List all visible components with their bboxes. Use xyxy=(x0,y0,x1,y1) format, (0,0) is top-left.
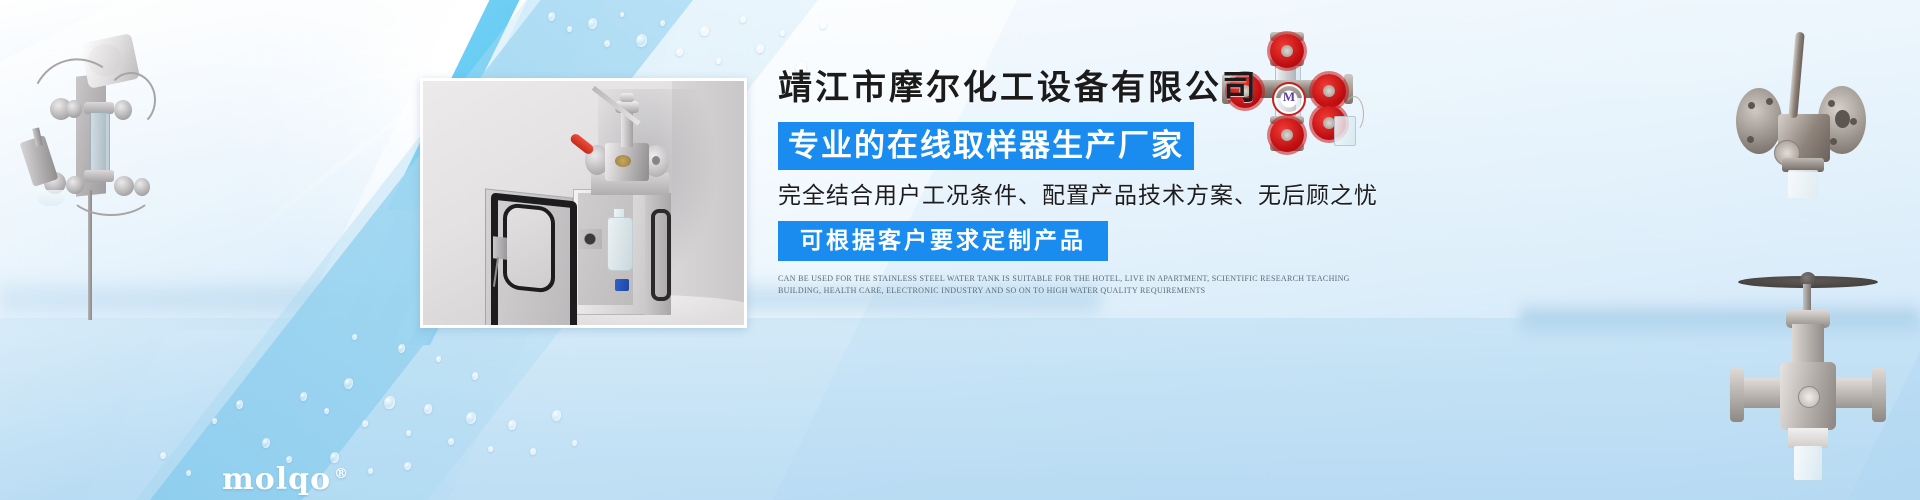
water-droplet-icon xyxy=(368,468,373,474)
gv-sample-bottle xyxy=(1794,446,1822,480)
brand-watermark: molqo® xyxy=(222,462,349,497)
water-droplet-icon xyxy=(384,396,395,409)
water-droplet-icon xyxy=(352,334,357,340)
water-droplet-icon xyxy=(740,16,746,23)
water-droplet-icon xyxy=(567,26,572,32)
sun-ray xyxy=(490,0,718,53)
photo-lever-grip xyxy=(569,132,596,156)
water-droplet-icon xyxy=(756,44,764,53)
product-photo xyxy=(420,78,747,328)
cv-handwheel-top xyxy=(1270,34,1304,68)
water-droplet-icon xyxy=(466,412,476,424)
water-droplet-icon xyxy=(436,356,441,362)
sun-ray xyxy=(490,50,819,77)
water-droplet-icon xyxy=(406,430,411,436)
water-droplet-icon xyxy=(186,470,191,476)
subheadline: 完全结合用户工况条件、配置产品技术方案、无后顾之忧 xyxy=(778,184,1398,207)
water-droplet-icon xyxy=(324,408,329,414)
headline-badge: 专业的在线取样器生产厂家 xyxy=(778,122,1194,170)
sun-ray xyxy=(490,0,590,51)
water-droplet-icon xyxy=(780,30,785,36)
water-droplet-icon xyxy=(212,418,217,424)
gv-flange-right xyxy=(1872,368,1886,422)
device-hose-lower xyxy=(66,160,156,216)
company-name: 靖江市摩尔化工设备有限公司 xyxy=(778,72,1398,106)
photo-door-lock xyxy=(493,236,507,259)
sun-ray xyxy=(361,0,492,50)
water-droplet-icon xyxy=(552,410,561,421)
sun-ray xyxy=(160,46,490,62)
gv-flange-left xyxy=(1730,368,1744,422)
water-droplet-icon xyxy=(262,438,270,448)
lever-valve-image xyxy=(1700,28,1890,198)
lv-bolt-hole-4 xyxy=(1828,100,1835,107)
water-droplet-icon xyxy=(572,440,577,446)
promo-banner: 靖江市摩尔化工设备有限公司 专业的在线取样器生产厂家 完全结合用户工况条件、配置… xyxy=(0,0,1920,500)
sun-ray xyxy=(490,0,656,52)
gv-pipe-left xyxy=(1738,378,1784,408)
sun-ray xyxy=(260,0,491,50)
sun-ray xyxy=(460,0,493,50)
sun-ray xyxy=(383,0,494,50)
water-droplet-icon xyxy=(404,462,411,470)
water-droplet-icon xyxy=(548,12,555,21)
lv-bolt-hole-1 xyxy=(1748,102,1755,109)
lv-sample-bottle xyxy=(1788,170,1818,198)
english-description: CAN BE USED FOR THE STAINLESS STEEL WATE… xyxy=(778,273,1378,298)
photo-cabinet-handle xyxy=(651,209,671,301)
photo-valve-knob xyxy=(620,93,634,102)
water-droplet-icon xyxy=(344,378,353,389)
photo-blue-cap xyxy=(615,279,629,291)
water-droplet-icon xyxy=(636,34,647,47)
water-droplet-icon xyxy=(508,420,516,430)
water-droplet-icon xyxy=(530,448,536,455)
water-droplet-icon xyxy=(236,400,243,409)
lv-bolt-hole-6 xyxy=(1830,138,1837,145)
lv-operating-lever xyxy=(1788,32,1804,118)
sun-ray xyxy=(244,4,491,50)
water-droplet-icon xyxy=(604,40,610,47)
watermark-registered-mark: ® xyxy=(334,466,349,482)
banner-text-block: 靖江市摩尔化工设备有限公司 专业的在线取样器生产厂家 完全结合用户工况条件、配置… xyxy=(778,72,1398,298)
sun-ray xyxy=(320,0,493,50)
sun-ray xyxy=(490,0,614,51)
left-device-image xyxy=(10,20,190,310)
lv-bolt-hole-2 xyxy=(1766,98,1773,105)
water-droplet-icon xyxy=(660,20,665,26)
gv-nameplate xyxy=(1798,386,1820,408)
water-droplet-icon xyxy=(160,452,166,459)
water-droplet-icon xyxy=(362,420,368,427)
gate-valve-image xyxy=(1718,270,1898,480)
lv-bolt-hole-3 xyxy=(1747,136,1754,143)
water-droplet-icon xyxy=(820,22,826,29)
sun-ray xyxy=(490,0,756,53)
water-droplet-icon xyxy=(300,392,307,401)
photo-valve-nameplate xyxy=(615,155,631,167)
tagline-badge: 可根据客户要求定制产品 xyxy=(778,221,1108,261)
water-droplet-icon xyxy=(448,438,454,445)
water-droplet-icon xyxy=(398,344,405,353)
gv-collar xyxy=(1788,428,1828,448)
photo-bolt-plate xyxy=(578,229,602,249)
sun-ray xyxy=(490,0,734,53)
device-sample-cup xyxy=(36,190,66,206)
lv-bolt-hole-5 xyxy=(1850,118,1857,125)
water-droplet-icon xyxy=(700,26,709,36)
sun-ray xyxy=(220,0,493,50)
device-hose-right xyxy=(106,72,156,128)
sun-ray xyxy=(490,0,515,50)
water-droplet-icon xyxy=(488,446,493,452)
lv-flange-left xyxy=(1736,88,1782,154)
water-droplet-icon xyxy=(588,18,597,29)
photo-door-window xyxy=(503,202,555,293)
watermark-text: molqo xyxy=(222,462,331,497)
water-droplet-icon xyxy=(620,12,624,17)
photo-sample-bottle xyxy=(607,217,633,271)
water-droplet-icon xyxy=(472,372,478,380)
water-droplet-icon xyxy=(716,58,721,64)
water-droplet-icon xyxy=(676,48,683,56)
water-droplet-icon xyxy=(424,404,432,414)
